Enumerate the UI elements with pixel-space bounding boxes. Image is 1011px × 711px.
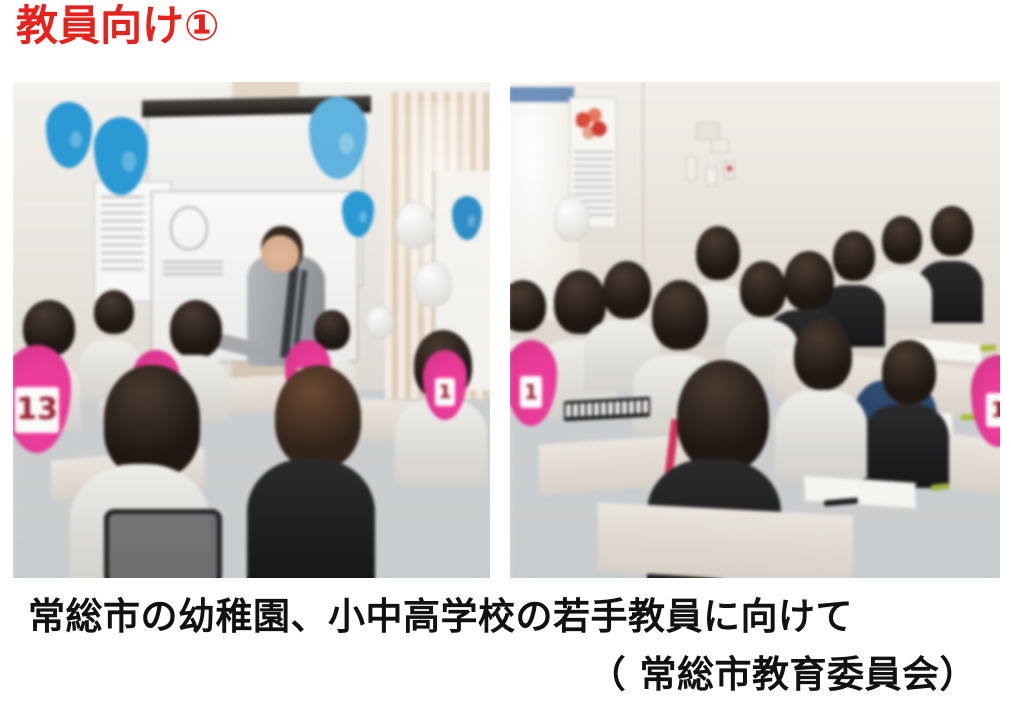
marker-pen: [931, 483, 950, 491]
attendee-body: [247, 459, 375, 578]
desk: [598, 502, 853, 578]
placard-number: 1: [986, 393, 1000, 427]
attendee-head: [696, 226, 740, 280]
wall-switch: [686, 156, 697, 180]
attendee-head: [275, 365, 361, 469]
whiteboard-writing: [163, 261, 223, 279]
attendee-head: [784, 251, 834, 311]
side-whiteboard-writing: [101, 196, 144, 275]
photo-right-audience: 1 1: [510, 82, 1000, 578]
attendee-head: [882, 340, 936, 404]
attendee-head: [794, 320, 852, 390]
page-title: 教員向け①: [16, 2, 220, 50]
attendee-head: [170, 300, 222, 358]
attendee-body: [775, 390, 867, 478]
chair: [104, 509, 222, 578]
marker-pen: [980, 344, 996, 351]
attendee-head: [882, 216, 922, 264]
wall-switch-indicator: [727, 166, 732, 171]
placard-number: 1: [520, 376, 542, 408]
wall-switch: [706, 166, 717, 186]
whiteboard-face-sketch: [170, 206, 208, 250]
photo-left-lecture: 11 1 1 13: [13, 82, 490, 578]
attendee-head: [833, 231, 875, 281]
pink-teardrop-placard: 13: [13, 345, 71, 453]
white-balloon: [554, 196, 590, 242]
white-balloon: [414, 261, 452, 307]
wall-switch: [711, 139, 729, 153]
attendee-head: [94, 290, 134, 334]
attendee-head: [603, 261, 651, 319]
white-balloon: [395, 201, 435, 249]
attendee-head: [740, 261, 786, 317]
attendee-head: [931, 206, 973, 256]
wall-edge: [642, 82, 644, 290]
attendee-head: [104, 365, 200, 477]
white-balloon: [366, 305, 394, 339]
window-sash: [510, 87, 574, 102]
attendee-head: [677, 360, 769, 472]
wall-switch: [696, 122, 720, 140]
caption-line-attribution: （ 常総市教育委員会）: [589, 644, 977, 698]
attendee-body: [863, 404, 949, 488]
placard-number: 13: [15, 387, 59, 433]
placard-number: 1: [435, 378, 455, 406]
presenter-head: [261, 226, 303, 272]
caption-line-primary: 常総市の幼稚園、小中高学校の若手教員に向けて: [28, 586, 853, 640]
poster-artwork: [576, 104, 608, 144]
attendee-head: [652, 280, 708, 350]
